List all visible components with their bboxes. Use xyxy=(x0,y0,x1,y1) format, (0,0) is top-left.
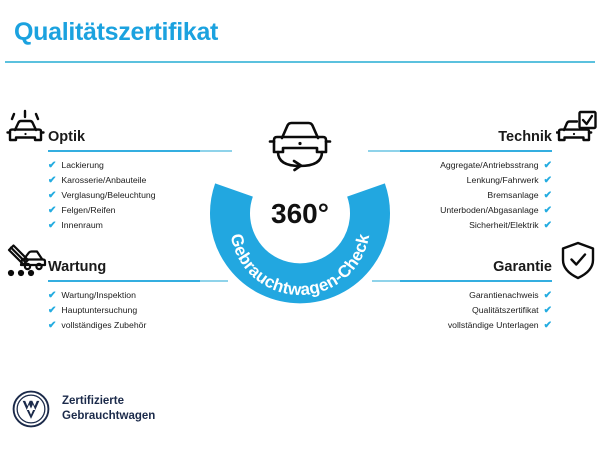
list-item: Garantienachweis✔ xyxy=(400,288,552,303)
list-item: ✔Hauptuntersuchung xyxy=(48,303,200,318)
badge-degrees-label: 360° xyxy=(200,198,400,230)
list-item-label: Wartung/Inspektion xyxy=(61,291,136,300)
brand-footer-line1: Zertifizierte xyxy=(62,394,155,409)
quality-certificate-infographic: Qualitätszertifikat xyxy=(0,0,600,450)
section-garantie-divider xyxy=(400,280,552,282)
section-wartung-header: Wartung xyxy=(48,250,200,282)
list-item-label: Innenraum xyxy=(61,221,103,230)
list-item: ✔Innenraum xyxy=(48,218,200,233)
check-icon: ✔ xyxy=(48,291,56,301)
list-item-label: Lenkung/Fahrwerk xyxy=(467,176,539,185)
list-item: Sicherheit/Elektrik✔ xyxy=(400,218,552,233)
check-icon: ✔ xyxy=(544,321,552,331)
list-item-label: Sicherheit/Elektrik xyxy=(469,221,539,230)
check-icon: ✔ xyxy=(544,221,552,231)
vw-logo-icon xyxy=(12,390,50,428)
page-title: Qualitätszertifikat xyxy=(14,18,218,47)
list-item-label: Verglasung/Beleuchtung xyxy=(61,191,155,200)
list-item-label: Lackierung xyxy=(61,161,104,170)
list-item: Bremsanlage✔ xyxy=(400,188,552,203)
list-item-label: Karosserie/Anbauteile xyxy=(61,176,146,185)
list-item: ✔Felgen/Reifen xyxy=(48,203,200,218)
list-item-label: Garantienachweis xyxy=(469,291,539,300)
title-divider xyxy=(5,61,595,63)
list-item-label: vollständiges Zubehör xyxy=(61,321,146,330)
section-optik-divider xyxy=(48,150,200,152)
list-item-label: Hauptuntersuchung xyxy=(61,306,137,315)
car-service-tool-icon xyxy=(4,240,48,289)
section-wartung-list: ✔Wartung/Inspektion ✔Hauptuntersuchung ✔… xyxy=(48,288,200,333)
list-item: ✔vollständiges Zubehör xyxy=(48,318,200,333)
list-item: ✔Karosserie/Anbauteile xyxy=(48,173,200,188)
check-icon: ✔ xyxy=(48,176,56,186)
shield-check-icon xyxy=(560,240,596,287)
section-wartung: Wartung ✔Wartung/Inspektion ✔Hauptunters… xyxy=(48,250,200,333)
list-item-label: vollständige Unterlagen xyxy=(448,321,539,330)
section-technik: Technik Aggregate/Antriebsstrang✔ Lenkun… xyxy=(400,120,552,233)
check-icon: ✔ xyxy=(48,206,56,216)
list-item-label: Felgen/Reifen xyxy=(61,206,115,215)
brand-footer-line2: Gebrauchtwagen xyxy=(62,409,155,424)
section-technik-title: Technik xyxy=(498,129,552,145)
brand-footer-text: Zertifizierte Gebrauchtwagen xyxy=(62,394,155,423)
section-optik-list: ✔Lackierung ✔Karosserie/Anbauteile ✔Verg… xyxy=(48,158,200,233)
brand-footer: Zertifizierte Gebrauchtwagen xyxy=(12,390,155,428)
section-wartung-title: Wartung xyxy=(48,259,106,275)
section-garantie-header: Garantie xyxy=(400,250,552,282)
list-item-label: Aggregate/Antriebsstrang xyxy=(440,161,539,170)
check-icon: ✔ xyxy=(544,191,552,201)
check-icon: ✔ xyxy=(48,191,56,201)
car-checkbox-icon xyxy=(556,108,598,157)
list-item-label: Bremsanlage xyxy=(487,191,538,200)
list-item: ✔Verglasung/Beleuchtung xyxy=(48,188,200,203)
section-wartung-divider xyxy=(48,280,200,282)
check-icon: ✔ xyxy=(544,291,552,301)
car-shine-icon xyxy=(4,108,48,157)
section-garantie: Garantie Garantienachweis✔ Qualitätszert… xyxy=(400,250,552,333)
list-item: ✔Wartung/Inspektion xyxy=(48,288,200,303)
section-technik-list: Aggregate/Antriebsstrang✔ Lenkung/Fahrwe… xyxy=(400,158,552,233)
check-icon: ✔ xyxy=(48,306,56,316)
section-optik-header: Optik xyxy=(48,120,200,152)
section-garantie-list: Garantienachweis✔ Qualitätszertifikat✔ v… xyxy=(400,288,552,333)
list-item: Aggregate/Antriebsstrang✔ xyxy=(400,158,552,173)
check-icon: ✔ xyxy=(544,206,552,216)
list-item-label: Unterboden/Abgasanlage xyxy=(440,206,539,215)
list-item: Qualitätszertifikat✔ xyxy=(400,303,552,318)
section-technik-header: Technik xyxy=(400,120,552,152)
360-gebrauchtwagen-check-badge: Gebrauchtwagen-Check 360° xyxy=(200,120,400,310)
check-icon: ✔ xyxy=(544,306,552,316)
list-item: Lenkung/Fahrwerk✔ xyxy=(400,173,552,188)
check-icon: ✔ xyxy=(48,161,56,171)
section-optik: Optik ✔Lackierung ✔Karosserie/Anbauteile… xyxy=(48,120,200,233)
check-icon: ✔ xyxy=(48,321,56,331)
section-garantie-title: Garantie xyxy=(493,259,552,275)
list-item: ✔Lackierung xyxy=(48,158,200,173)
check-icon: ✔ xyxy=(544,176,552,186)
list-item: vollständige Unterlagen✔ xyxy=(400,318,552,333)
list-item-label: Qualitätszertifikat xyxy=(472,306,539,315)
check-icon: ✔ xyxy=(544,161,552,171)
section-optik-title: Optik xyxy=(48,129,85,145)
check-icon: ✔ xyxy=(48,221,56,231)
list-item: Unterboden/Abgasanlage✔ xyxy=(400,203,552,218)
section-technik-divider xyxy=(400,150,552,152)
